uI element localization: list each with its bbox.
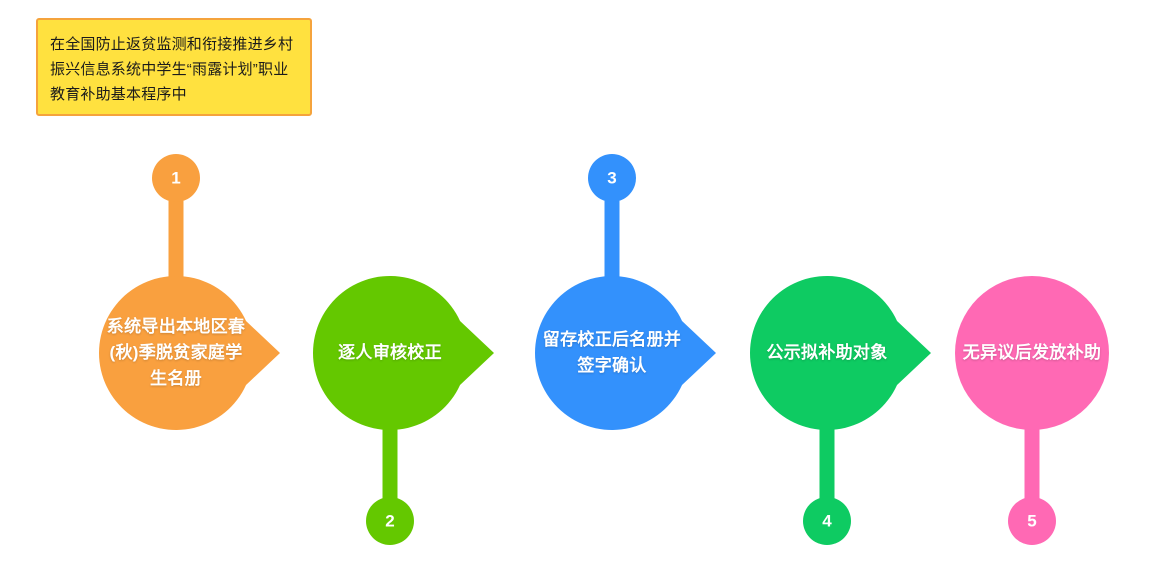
step-number-label: 5 bbox=[1008, 513, 1056, 530]
step-label: 逐人审核校正 bbox=[315, 340, 465, 366]
step-number-label: 3 bbox=[588, 170, 636, 187]
step-label: 无异议后发放补助 bbox=[957, 340, 1107, 366]
step-number-label: 2 bbox=[366, 513, 414, 530]
step-number-label: 1 bbox=[152, 170, 200, 187]
step-label: 公示拟补助对象 bbox=[752, 340, 902, 366]
diagram-canvas: 在全国防止返贫监测和衔接推进乡村振兴信息系统中学生“雨露计划”职业教育补助基本程… bbox=[0, 0, 1168, 571]
step-label: 留存校正后名册并签字确认 bbox=[537, 327, 687, 379]
step-label: 系统导出本地区春(秋)季脱贫家庭学生名册 bbox=[101, 314, 251, 392]
flow-labels-layer: 系统导出本地区春(秋)季脱贫家庭学生名册1逐人审核校正2留存校正后名册并签字确认… bbox=[0, 0, 1168, 571]
step-number-label: 4 bbox=[803, 513, 851, 530]
